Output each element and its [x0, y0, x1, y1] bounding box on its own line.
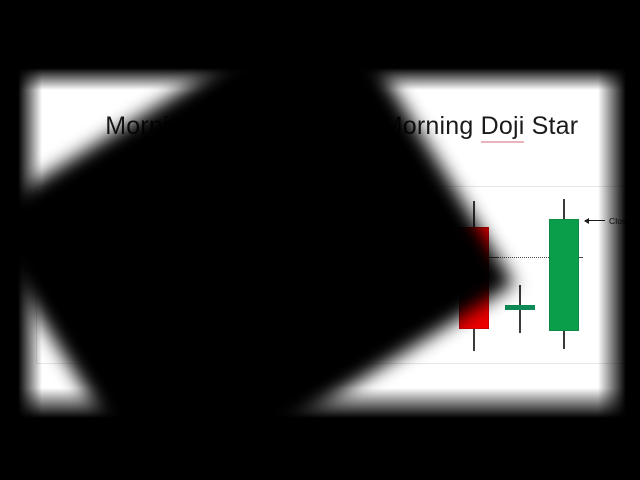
slide-page: Morning Star Mid-point: [18, 68, 626, 418]
screenshot-stage: Morning Star Mid-point: [0, 0, 640, 480]
title-word-star: Star: [524, 112, 578, 140]
close-label-right: Close: [609, 216, 626, 226]
candle-3-body-right: [549, 219, 579, 331]
candle-2-doji-right: [505, 285, 535, 333]
candle-3-bullish-right: [549, 199, 579, 349]
title-word-doji-misspelled: Doji: [481, 112, 525, 143]
candle-2-doji-body-right: [505, 305, 535, 310]
close-arrow-right-icon: [585, 220, 605, 221]
